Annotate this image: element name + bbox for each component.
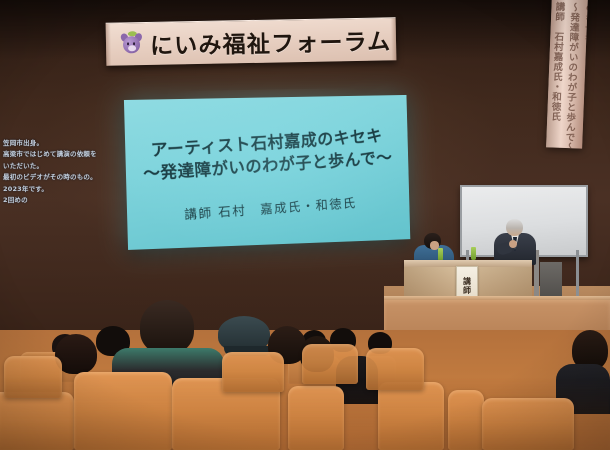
note-line: 最初のビデオがその時のもの。 — [3, 172, 119, 183]
grape-mascot-icon — [120, 31, 144, 57]
lecturer-placard-text: 講師 — [462, 277, 473, 295]
audience-head — [140, 300, 194, 354]
speaker-right-head — [506, 219, 523, 236]
slide-title: アーティスト石村嘉成のキセキ 〜発達障がいのわが子と歩んで〜 — [141, 125, 393, 187]
slide-subtitle: 講師 石村 嘉成氏・和徳氏 — [183, 193, 356, 224]
vertical-hanging-banner: のキセキ 〜発達障がいのわが子と歩んで〜 講師 石村嘉成氏・和徳氏 — [546, 0, 588, 149]
forum-banner-text: にいみ福祉フォーラム — [150, 22, 392, 61]
projection-screen: アーティスト石村嘉成のキセキ 〜発達障がいのわが子と歩んで〜 講師 石村 嘉成氏… — [124, 95, 410, 250]
foreground-blur — [0, 378, 610, 450]
auditorium-photo: にいみ福祉フォーラム のキセキ 〜発達障がいのわが子と歩んで〜 講師 石村嘉成氏… — [0, 0, 610, 450]
annotation-note: 笠岡市出身。 高梁市ではじめて講演の依頼を いただいた。 最初のビデオがその時の… — [3, 138, 119, 206]
note-line: いただいた。 — [3, 161, 119, 172]
note-line: 笠岡市出身。 — [3, 138, 119, 149]
note-line: 2023年です。 — [3, 184, 119, 195]
presentation-slide: アーティスト石村嘉成のキセキ 〜発達障がいのわが子と歩んで〜 講師 石村 嘉成氏… — [124, 95, 410, 250]
speaker-right-hand — [509, 240, 517, 248]
note-line: 高梁市ではじめて講演の依頼を — [3, 149, 119, 160]
vertical-banner-shading — [546, 0, 588, 149]
note-line: 2回めの — [3, 195, 119, 206]
green-tea-bottle — [471, 247, 476, 260]
forum-banner: にいみ福祉フォーラム — [106, 17, 397, 66]
